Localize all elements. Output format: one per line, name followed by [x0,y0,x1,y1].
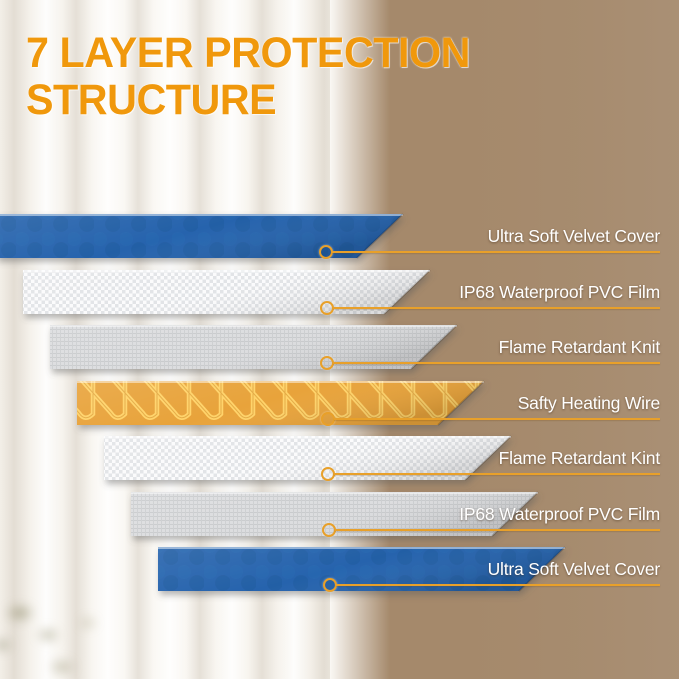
layer-label-3: Flame Retardant Knit [499,337,660,358]
ring-marker-icon [320,301,334,315]
callout-list: Ultra Soft Velvet CoverIP68 Waterproof P… [0,0,679,679]
layer-label-5: Flame Retardant Kint [499,448,660,469]
leader-line [334,418,660,420]
layer-label-4: Safty Heating Wire [518,393,660,414]
leader-line [334,473,660,475]
leader-line [333,307,660,309]
layer-label-2: IP68 Waterproof PVC Film [459,282,660,303]
leader-line [333,362,660,364]
layer-label-7: Ultra Soft Velvet Cover [488,559,660,580]
ring-marker-icon [321,412,335,426]
leader-line [335,529,660,531]
leader-line [336,584,660,586]
leader-line [332,251,660,253]
layer-label-6: IP68 Waterproof PVC Film [459,504,660,525]
ring-marker-icon [319,245,333,259]
ring-marker-icon [320,356,334,370]
layer-label-1: Ultra Soft Velvet Cover [488,226,660,247]
infographic-stage: 7 Layer Protection Structure Ultra Soft … [0,0,679,679]
ring-marker-icon [323,578,337,592]
ring-marker-icon [321,467,335,481]
ring-marker-icon [322,523,336,537]
